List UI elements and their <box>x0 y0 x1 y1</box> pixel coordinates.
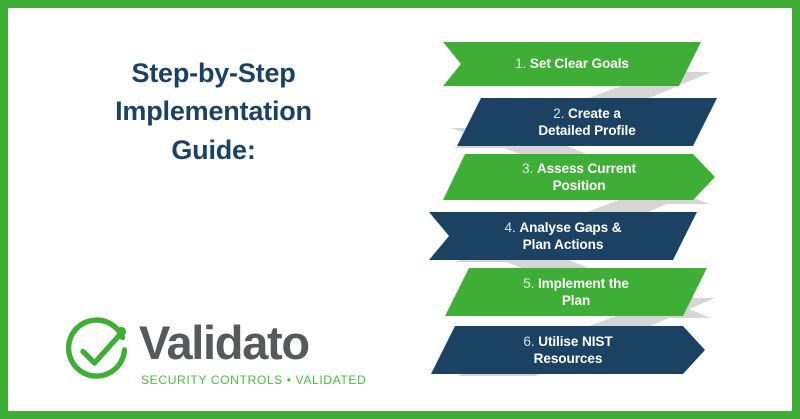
process-step-6-text-line-2: Resources <box>534 351 603 366</box>
process-step-2-text-line-1: Create a <box>568 106 621 121</box>
process-step-4-number: 4. <box>505 220 520 235</box>
process-step-1-label: 1. Set Clear Goals <box>501 55 643 72</box>
check-circle-icon <box>66 317 132 383</box>
process-step-5-number: 5. <box>523 276 538 291</box>
left-panel: Step-by-Step Implementation Guide: Valid… <box>16 16 411 419</box>
process-step-3[interactable]: 3. Assess Current Position <box>443 154 715 200</box>
process-step-6[interactable]: 6. Utilise NIST Resources <box>431 326 705 374</box>
process-step-1-text: Set Clear Goals <box>530 56 629 71</box>
process-step-2-label: 2. Create a Detailed Profile <box>524 105 649 140</box>
process-step-4-label: 4. Analyse Gaps & Plan Actions <box>491 219 636 254</box>
process-step-6-text-line-1: Utilise NIST <box>538 334 612 349</box>
process-step-5-text-line-2: Plan <box>562 293 590 308</box>
process-step-3-label: 3. Assess Current Position <box>508 160 650 195</box>
page-title-line-2: Implementation <box>16 92 411 130</box>
process-step-2-text-line-2: Detailed Profile <box>538 123 635 138</box>
process-step-1-number: 1. <box>515 56 530 71</box>
process-step-4-text-line-2: Plan Actions <box>523 237 604 252</box>
process-step-4[interactable]: 4. Analyse Gaps & Plan Actions <box>429 212 697 260</box>
logo-wordmark: Validato <box>139 319 309 366</box>
process-step-6-number: 6. <box>523 334 538 349</box>
page-title-line-3: Guide: <box>16 131 411 169</box>
process-step-5-text-line-1: Implement the <box>538 276 629 291</box>
process-step-3-number: 3. <box>522 161 537 176</box>
process-step-5-label: 5. Implement the Plan <box>509 275 643 310</box>
process-flow: 1. Set Clear Goals 2. Create a Detailed … <box>411 16 800 419</box>
process-step-4-text-line-1: Analyse Gaps & <box>519 220 621 235</box>
process-step-2-number: 2. <box>553 106 568 121</box>
infographic-canvas: Step-by-Step Implementation Guide: Valid… <box>0 0 800 419</box>
logo-tagline: SECURITY CONTROLS • VALIDATED <box>141 373 366 387</box>
validato-logo: Validato SECURITY CONTROLS • VALIDATED <box>61 311 351 403</box>
process-step-5[interactable]: 5. Implement the Plan <box>445 268 707 316</box>
process-step-6-label: 6. Utilise NIST Resources <box>509 333 626 368</box>
process-step-3-text-line-1: Assess Current <box>537 161 636 176</box>
process-step-3-text-line-2: Position <box>553 178 606 193</box>
process-step-2[interactable]: 2. Create a Detailed Profile <box>457 98 717 146</box>
page-title-line-1: Step-by-Step <box>16 54 411 92</box>
process-step-1[interactable]: 1. Set Clear Goals <box>443 42 701 86</box>
page-title: Step-by-Step Implementation Guide: <box>16 54 411 169</box>
